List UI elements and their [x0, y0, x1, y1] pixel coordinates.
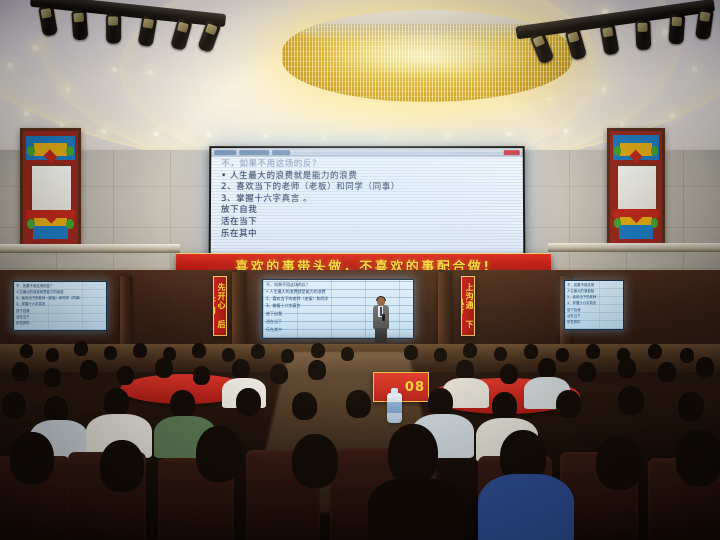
- audience-head: [12, 362, 29, 381]
- stage-spotlight: [138, 15, 158, 47]
- audience-head: [696, 357, 714, 377]
- audience-head: [678, 392, 704, 421]
- glass-pane-blue: [619, 225, 652, 238]
- stage-spotlight: [170, 18, 193, 51]
- audience-head-foreground: [100, 440, 144, 492]
- mini-slide-line: 不，如果不用这场的反？: [266, 282, 410, 287]
- side-slide-line: 人生最大的浪费就: [567, 289, 621, 294]
- audience-head: [117, 366, 134, 385]
- glass-pane-green: [614, 146, 622, 156]
- stained-glass-inner: [23, 131, 78, 244]
- stage-spotlight: [71, 9, 88, 40]
- downlight: [505, 131, 513, 137]
- audience-head: [192, 343, 206, 358]
- downlight: [22, 110, 31, 117]
- audience-head: [44, 368, 61, 387]
- stained-glass-window-left: [20, 128, 81, 247]
- audience-head: [222, 348, 235, 362]
- audience-head: [404, 345, 418, 360]
- audience-head: [232, 359, 250, 379]
- side-slide-line: 不，如果不用这场: [567, 283, 621, 288]
- glass-pane-clear: [617, 165, 656, 212]
- conference-hall-photo: 不，如果不用这场的反？ • 人生最大的浪费就是能力的浪费 2、喜欢当下的老师（老…: [0, 0, 720, 540]
- audience-head: [680, 348, 694, 363]
- audience-head: [578, 362, 596, 382]
- downlight: [600, 86, 608, 92]
- audience-head: [346, 390, 371, 418]
- audience-head: [586, 344, 600, 359]
- audience-head: [618, 358, 636, 378]
- microphone-icon: [382, 314, 385, 321]
- audience-head-foreground: [292, 434, 338, 488]
- glass-pane-green: [651, 146, 659, 156]
- audience-head: [193, 366, 210, 385]
- downlight: [444, 133, 452, 139]
- vertical-banner-right: 上沟通 下执行: [461, 276, 475, 336]
- vertical-banner-left: 先开心 后开口: [213, 276, 227, 336]
- stage-spotlight: [695, 8, 714, 40]
- titlebar-chip: [239, 150, 269, 155]
- slide-line: 2、喜欢当下的老师（老板）和同学（同事）: [221, 182, 515, 194]
- stage-spotlight: [106, 13, 121, 43]
- side-screen-left: 不，如果不用这场的反？ 人生最大的浪费就是能力的浪费 2、喜欢当下的老师（老板）…: [13, 281, 107, 331]
- downlight: [382, 134, 390, 140]
- glass-pane-green: [651, 218, 659, 228]
- slide-line: 乐在其中: [221, 229, 515, 241]
- downlight: [5, 62, 15, 69]
- audience-head: [538, 358, 556, 378]
- audience-head: [74, 341, 88, 356]
- audience-head: [281, 349, 294, 363]
- audience-head: [524, 344, 538, 359]
- slide-content: 不，如果不用这场的反？ • 人生最大的浪费就是能力的浪费 2、喜欢当下的老师（老…: [211, 157, 524, 258]
- audience-head: [618, 386, 644, 415]
- audience-head: [170, 390, 195, 418]
- stage-spotlight: [530, 31, 555, 64]
- stained-glass-inner: [610, 131, 662, 243]
- side-slide-line: 不，如果不用这场的反？: [16, 284, 104, 289]
- audience-head: [133, 343, 147, 358]
- downlight: [100, 128, 108, 134]
- audience-head-foreground: [676, 430, 720, 486]
- side-slide-line: 2、喜欢当下的老师: [567, 295, 621, 300]
- audience-head: [494, 347, 507, 361]
- side-slide-line: 人生最大的浪费就是能力的浪费: [16, 290, 104, 295]
- audience-head: [155, 358, 173, 378]
- side-slide-line: 3、掌握十六字真言: [567, 301, 621, 306]
- stage-spotlight: [635, 20, 651, 51]
- downlight: [562, 128, 570, 134]
- audience-head-foreground: [10, 432, 54, 484]
- titlebar-chip: [214, 150, 236, 155]
- audience-head: [46, 348, 59, 362]
- slide-line: 活在当下: [221, 217, 515, 229]
- stage-spotlight: [668, 14, 685, 45]
- window-sill-left: [0, 244, 180, 253]
- stage-spotlight: [197, 20, 221, 53]
- side-slide-line: 活在当下: [16, 315, 104, 320]
- titlebar-chip: [272, 150, 290, 155]
- downlight: [205, 132, 213, 138]
- side-slide-line: 2、喜欢当下的老师（老板）和同学（同事）: [16, 296, 104, 301]
- audience-body-foreground: [478, 474, 574, 540]
- glass-pane-blue: [33, 226, 68, 240]
- audience-head: [648, 344, 662, 359]
- slide-line: 3、掌握十六字真言 。: [221, 194, 515, 206]
- audience-head: [44, 396, 68, 423]
- bottle-label: [387, 402, 402, 413]
- audience-head: [80, 360, 98, 380]
- downlight: [262, 133, 270, 139]
- audience-head: [308, 360, 326, 380]
- audience-head-foreground: [196, 426, 242, 482]
- audience-head-foreground: [388, 424, 438, 484]
- mini-slide-line: • 人生最大的浪费就是能力的浪费: [266, 289, 410, 294]
- stained-glass-window-right: [607, 128, 665, 246]
- side-screen-right: 不，如果不用这场 人生最大的浪费就 2、喜欢当下的老师 3、掌握十六字真言 放下…: [564, 280, 624, 330]
- stage-spotlight: [600, 23, 620, 55]
- audience-head: [658, 362, 676, 382]
- downlight: [152, 131, 160, 137]
- glass-pane-green: [27, 146, 35, 156]
- audience-head: [456, 360, 474, 380]
- audience-head: [556, 390, 581, 418]
- downlight: [63, 86, 72, 93]
- audience-head: [311, 343, 325, 358]
- slide-window-titlebar: [211, 148, 522, 157]
- side-slide-line: 3、掌握十六字真言: [16, 302, 104, 307]
- glass-pane-green: [66, 219, 74, 229]
- audience-head: [2, 392, 26, 419]
- audience-head: [270, 364, 288, 384]
- audience-head: [500, 364, 518, 384]
- audience-head: [463, 343, 477, 358]
- audience-body-foreground: [368, 478, 464, 540]
- slide-line: 不，如果不用这场的反？: [221, 159, 515, 171]
- audience-head: [20, 344, 33, 358]
- stage-spotlight: [565, 28, 588, 61]
- audience-head: [556, 348, 569, 362]
- titlebar-close-icon[interactable]: [504, 150, 520, 155]
- audience-head: [428, 388, 453, 416]
- audience-head: [251, 344, 265, 359]
- glass-pane-clear: [31, 165, 73, 212]
- audience-head: [104, 346, 117, 360]
- downlight: [690, 66, 699, 73]
- audience-head: [104, 388, 129, 416]
- side-slide-line: 乐在其中: [16, 321, 104, 326]
- chandelier-glow: [328, 34, 525, 78]
- downlight: [146, 69, 155, 76]
- window-sill-right: [548, 243, 720, 252]
- side-slide-line: 活在当下: [567, 314, 621, 319]
- main-led-screen[interactable]: 不，如果不用这场的反？ • 人生最大的浪费就是能力的浪费 2、喜欢当下的老师（老…: [209, 146, 526, 260]
- side-slide-line: 乐在其中: [567, 320, 621, 325]
- water-bottle: [387, 393, 402, 423]
- downlight: [110, 66, 119, 73]
- glass-pane-green: [66, 146, 74, 156]
- audience-head: [292, 392, 317, 420]
- audience-head-foreground: [596, 436, 642, 490]
- downlight: [320, 134, 328, 140]
- audience-head: [341, 347, 354, 361]
- slide-line: 放下自我: [221, 205, 515, 217]
- side-slide-line: 放下自我: [16, 309, 104, 314]
- audience-head: [236, 388, 261, 416]
- downlight: [668, 112, 677, 119]
- slide-line: • 人生最大的浪费就是能力的浪费: [221, 171, 515, 183]
- side-slide-line: 放下自我: [567, 308, 621, 313]
- audience-head: [434, 348, 447, 362]
- audience-head: [492, 392, 517, 420]
